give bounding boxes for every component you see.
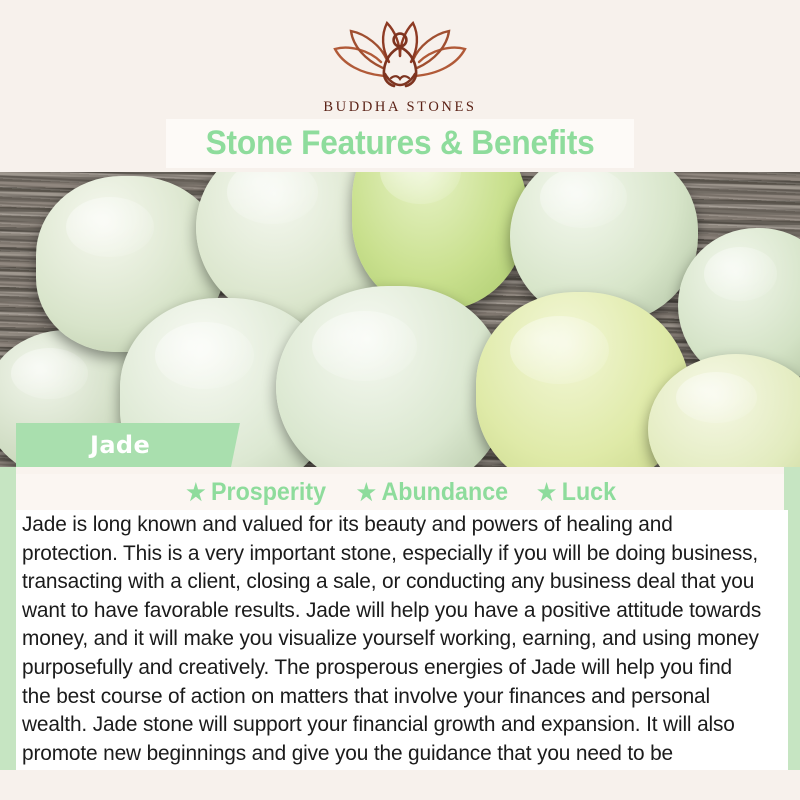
star-icon: ★: [357, 481, 376, 504]
footer-fill: [0, 770, 800, 800]
star-icon: ★: [537, 481, 556, 504]
title-plaque: Stone Features & Benefits: [166, 119, 634, 168]
benefit-label: Prosperity: [211, 478, 326, 507]
star-icon: ★: [186, 481, 205, 504]
benefit-luck: ★ Luck: [537, 478, 616, 507]
stone-photo: Jade: [0, 172, 800, 467]
lotus-meditation-icon: [325, 18, 475, 96]
page-title: Stone Features & Benefits: [206, 124, 595, 163]
description-block: Jade is long known and valued for its be…: [16, 510, 788, 796]
benefits-row: ★ Prosperity ★ Abundance ★ Luck: [16, 474, 784, 510]
benefit-abundance: ★ Abundance: [357, 478, 508, 507]
description-text: Jade is long known and valued for its be…: [22, 510, 761, 796]
stone-pebble: [276, 286, 504, 467]
brand-logo: BUDDHA STONES: [0, 18, 800, 116]
brand-wordmark: BUDDHA STONES: [0, 99, 800, 116]
stone-name-banner: Jade: [16, 423, 240, 467]
benefit-label: Luck: [562, 478, 616, 507]
infographic-card: BUDDHA STONES Stone Features & Benefits …: [0, 0, 800, 800]
header: BUDDHA STONES Stone Features & Benefits: [0, 0, 800, 172]
stone-name-label: Jade: [90, 431, 150, 459]
benefit-prosperity: ★ Prosperity: [186, 478, 326, 507]
benefit-label: Abundance: [382, 478, 509, 507]
